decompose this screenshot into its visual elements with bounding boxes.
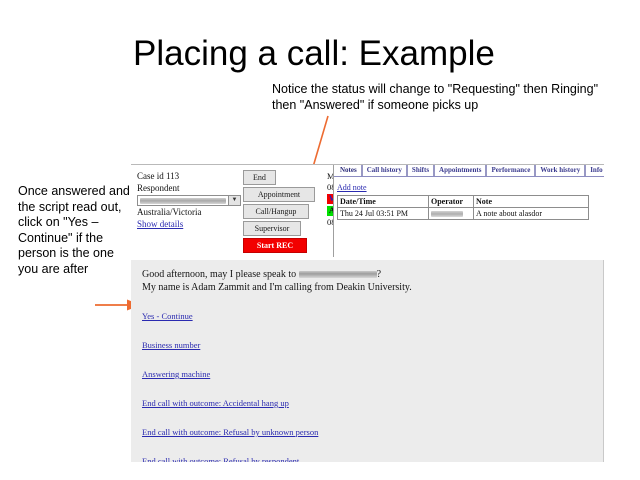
list-item: Business number bbox=[142, 335, 603, 353]
tab-shifts[interactable]: Shifts bbox=[407, 165, 434, 176]
list-item: End call with outcome: Accidental hang u… bbox=[142, 393, 603, 411]
cell-operator bbox=[429, 208, 474, 220]
tab-info[interactable]: Info bbox=[585, 165, 604, 176]
add-note-link[interactable]: Add note bbox=[337, 183, 367, 192]
tab-panel: Notes Call history Shifts Appointments P… bbox=[333, 165, 604, 257]
script-text: Good afternoon, may I please speak to ? … bbox=[142, 268, 603, 294]
script-region: Good afternoon, may I please speak to ? … bbox=[131, 260, 604, 462]
supervisor-button[interactable]: Supervisor bbox=[243, 221, 301, 236]
table-row[interactable]: Thu 24 Jul 03:51 PM A note about alasdor bbox=[338, 208, 589, 220]
script-line2: My name is Adam Zammit and I'm calling f… bbox=[142, 282, 412, 293]
notes-table: Date/Time Operator Note Thu 24 Jul 03:51… bbox=[337, 195, 589, 220]
tab-work-history[interactable]: Work history bbox=[535, 165, 585, 176]
redacted-respondent-value bbox=[140, 198, 226, 204]
redacted-respondent-name bbox=[299, 271, 377, 278]
tab-performance[interactable]: Performance bbox=[486, 165, 535, 176]
end-button[interactable]: End bbox=[243, 170, 276, 185]
column-header-datetime: Date/Time bbox=[338, 196, 429, 208]
callout-yes-continue-note: Once answered and the script read out, c… bbox=[18, 184, 130, 277]
start-rec-button[interactable]: Start REC bbox=[243, 238, 307, 253]
action-end-refusal-respondent[interactable]: End call with outcome: Refusal by respon… bbox=[142, 456, 299, 462]
tab-appointments[interactable]: Appointments bbox=[434, 165, 486, 176]
respondent-select[interactable]: ▼ bbox=[137, 195, 241, 206]
action-yes-continue[interactable]: Yes - Continue bbox=[142, 311, 193, 321]
callout-status-note: Notice the status will change to "Reques… bbox=[272, 82, 602, 113]
appointment-button[interactable]: Appointment bbox=[243, 187, 315, 202]
tab-notes[interactable]: Notes bbox=[336, 165, 362, 176]
call-hangup-button[interactable]: Call/Hangup bbox=[243, 204, 309, 219]
action-business-number[interactable]: Business number bbox=[142, 340, 200, 350]
list-item: End call with outcome: Refusal by respon… bbox=[142, 451, 603, 462]
action-end-refusal-unknown[interactable]: End call with outcome: Refusal by unknow… bbox=[142, 427, 318, 437]
tab-strip: Notes Call history Shifts Appointments P… bbox=[334, 165, 604, 177]
action-end-accidental-hangup[interactable]: End call with outcome: Accidental hang u… bbox=[142, 398, 289, 408]
page-title: Placing a call: Example bbox=[133, 33, 495, 75]
tab-call-history[interactable]: Call history bbox=[362, 165, 407, 176]
column-header-operator: Operator bbox=[429, 196, 474, 208]
column-header-note: Note bbox=[474, 196, 589, 208]
redacted-operator-value bbox=[431, 211, 463, 217]
chevron-down-icon: ▼ bbox=[228, 196, 240, 205]
call-control-buttons: End Appointment Call/Hangup Supervisor S… bbox=[243, 170, 319, 255]
script-line1-before: Good afternoon, may I please speak to bbox=[142, 269, 299, 280]
list-item: End call with outcome: Refusal by unknow… bbox=[142, 422, 603, 440]
embedded-app-screenshot: Case id 113 Respondent ▼ Australia/Victo… bbox=[131, 164, 604, 462]
script-line1-after: ? bbox=[377, 269, 381, 280]
action-list: Yes - Continue Business number Answering… bbox=[142, 306, 603, 462]
list-item: Yes - Continue bbox=[142, 306, 603, 324]
cell-datetime: Thu 24 Jul 03:51 PM bbox=[338, 208, 429, 220]
list-item: Answering machine bbox=[142, 364, 603, 382]
action-answering-machine[interactable]: Answering machine bbox=[142, 369, 210, 379]
table-header-row: Date/Time Operator Note bbox=[338, 196, 589, 208]
cell-note: A note about alasdor bbox=[474, 208, 589, 220]
app-top-bar: Case id 113 Respondent ▼ Australia/Victo… bbox=[131, 164, 604, 257]
